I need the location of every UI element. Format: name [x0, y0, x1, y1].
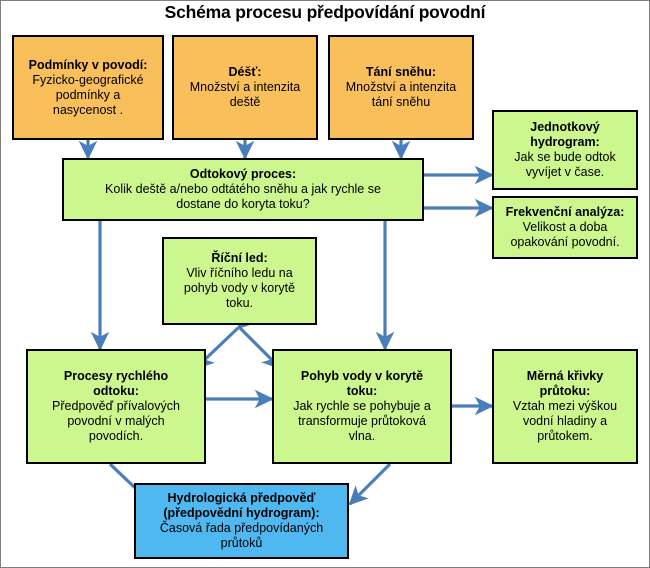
box-dest-line2: deště	[230, 95, 261, 110]
box-pohyb-vody-v-koryte-toku[interactable]: Pohyb vody v korytě toku: Jak rychle se …	[272, 349, 452, 464]
box-merna-heading2: průtoku:	[540, 384, 591, 399]
box-hydro-heading2: (předpovědní hydrogram):	[163, 506, 319, 521]
box-hydro-line2: průtoků	[221, 536, 263, 551]
box-podminky-line2: podmínky a	[56, 88, 121, 103]
box-jednotkovy-line1: Jak se bude odtok	[514, 150, 615, 165]
box-hydro-line1: Časová řada předpovídaných	[160, 521, 323, 536]
box-dest-line1: Množství a intenzita	[190, 80, 300, 95]
box-odtokovy-heading: Odtokový proces:	[190, 167, 296, 182]
box-procesy-rychleho-odtoku[interactable]: Procesy rychlého odtoku: Předpověď příva…	[26, 349, 206, 464]
box-ricniled-line2: pohyb vody v korytě	[184, 281, 295, 296]
box-jednotkovy-heading1: Jednotkový	[530, 120, 599, 135]
box-hydro-heading1: Hydrologická předpověď	[168, 491, 316, 506]
box-podminky-line1: Fyzicko-geografické	[32, 73, 143, 88]
box-tani-line2: tání sněhu	[372, 95, 430, 110]
box-tani-snehu[interactable]: Tání sněhu: Množství a intenzita tání sn…	[328, 35, 474, 140]
box-frekvencni-line2: opakování povodní.	[510, 235, 619, 250]
box-procesy-line1: Předpověď přívalových	[52, 399, 180, 414]
box-ricniled-line1: Vliv říčního ledu na	[186, 266, 292, 281]
box-dest[interactable]: Déšť: Množství a intenzita deště	[172, 35, 318, 140]
box-ricniled-heading: Říční led:	[211, 251, 267, 266]
box-pohyb-heading1: Pohyb vody v korytě	[301, 369, 423, 384]
box-ricni-led[interactable]: Říční led: Vliv říčního ledu na pohyb vo…	[162, 237, 317, 325]
box-merna-krivky-prutoku[interactable]: Měrná křivky průtoku: Vztah mezi výškou …	[492, 349, 638, 464]
box-odtokovy-line2: dostane do koryta toku?	[176, 197, 309, 212]
box-jednotkovy-hydrogram[interactable]: Jednotkový hydrogram: Jak se bude odtok …	[492, 110, 638, 190]
box-pohyb-line2: transformuje průtoková	[298, 414, 426, 429]
box-odtokovy-line1: Kolik deště a/nebo odtátého sněhu a jak …	[105, 182, 381, 197]
box-hydrologicka-predpoved[interactable]: Hydrologická předpověď (předpovědní hydr…	[134, 483, 349, 559]
box-merna-heading1: Měrná křivky	[527, 369, 603, 384]
box-podminky-line3: nasycenost .	[53, 103, 123, 118]
box-frekvencni-analyza[interactable]: Frekvenční analýza: Velikost a doba opak…	[492, 196, 638, 259]
box-procesy-heading2: odtoku:	[93, 384, 139, 399]
box-procesy-heading1: Procesy rychlého	[64, 369, 168, 384]
box-tani-line1: Množství a intenzita	[346, 80, 456, 95]
box-odtokovy-proces[interactable]: Odtokový proces: Kolik deště a/nebo odtá…	[62, 158, 424, 221]
box-pohyb-line3: vlna.	[349, 429, 375, 444]
box-jednotkovy-line2: vyvíjet v čase.	[526, 165, 605, 180]
box-podminky-heading: Podmínky v povodí:	[29, 58, 148, 73]
box-pohyb-heading2: toku:	[347, 384, 378, 399]
box-pohyb-line1: Jak rychle se pohybuje a	[293, 399, 431, 414]
box-dest-heading: Déšť:	[228, 65, 261, 80]
box-ricniled-line3: toku.	[226, 296, 253, 311]
box-procesy-line3: povodích.	[89, 429, 143, 444]
box-jednotkovy-heading2: hydrogram:	[530, 135, 599, 150]
box-tani-heading: Tání sněhu:	[366, 65, 436, 80]
arrow-pohyb-to-hydro	[350, 464, 390, 504]
box-frekvencni-heading: Frekvenční analýza:	[506, 205, 625, 220]
box-merna-line3: průtokem.	[537, 429, 593, 444]
box-frekvencni-line1: Velikost a doba	[523, 220, 608, 235]
box-merna-line2: vodní hladiny a	[523, 414, 607, 429]
box-procesy-line2: povodní v malých	[67, 414, 164, 429]
box-merna-line1: Vztah mezi výškou	[513, 399, 617, 414]
box-podminky-v-povodi[interactable]: Podmínky v povodí: Fyzicko-geografické p…	[12, 35, 164, 140]
